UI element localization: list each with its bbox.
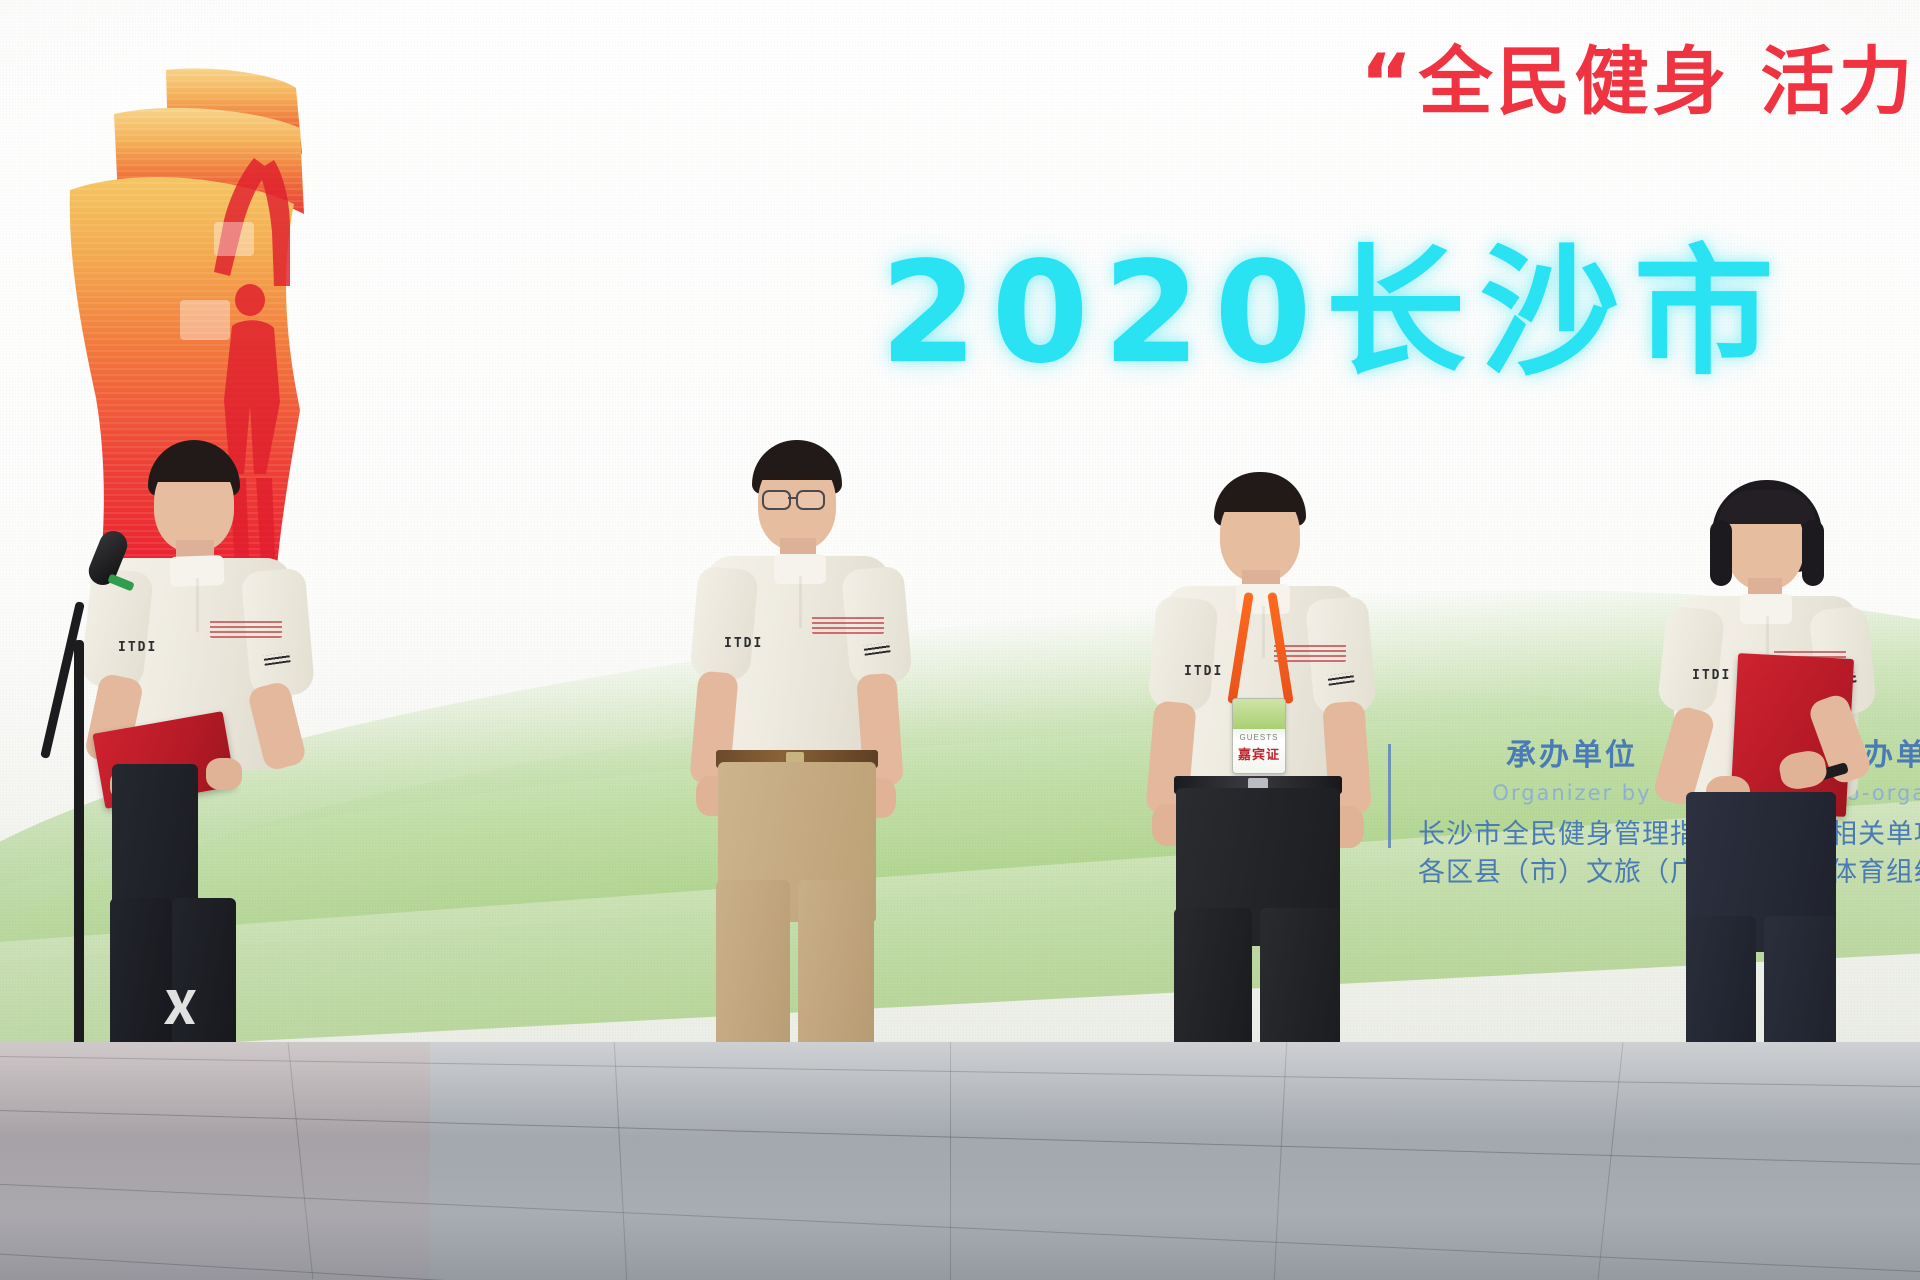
speaker-placket bbox=[196, 578, 199, 632]
guest2-event-emblem bbox=[812, 616, 884, 634]
guest2-shirt-brand-logo: ITDI bbox=[724, 636, 763, 651]
guest3-placket bbox=[1262, 606, 1265, 658]
guest4-sleeve-left bbox=[1657, 605, 1726, 714]
speaker-hand-right bbox=[206, 758, 242, 790]
badge-green-header bbox=[1233, 699, 1285, 729]
speaker-hair-front bbox=[150, 452, 238, 482]
guest3-hair-front bbox=[1216, 484, 1304, 512]
guest4-hair-front bbox=[1718, 490, 1816, 524]
led-main-title: 2020长沙市 bbox=[880, 200, 1788, 402]
guest4-shirt-brand-logo: ITDI bbox=[1692, 668, 1731, 683]
badge-chinese-label: 嘉宾证 bbox=[1233, 744, 1285, 763]
badge-english-label: GUESTS bbox=[1233, 733, 1285, 742]
speaker-event-emblem bbox=[210, 620, 282, 638]
guest4-hair-side-left bbox=[1710, 520, 1732, 586]
stage-floor bbox=[0, 1042, 1920, 1280]
guest3-shirt-brand-logo: ITDI bbox=[1184, 664, 1223, 679]
headline-quote-mark: “ bbox=[1360, 37, 1417, 130]
guest2-eyeglasses-icon bbox=[762, 490, 834, 508]
guest2-sleeve-left bbox=[689, 566, 759, 683]
led-headline: “全民健身 活力 bbox=[1360, 22, 1916, 130]
guest2-placket bbox=[799, 576, 802, 628]
guest3-sleeve-left bbox=[1147, 596, 1219, 713]
guest2-hair-front bbox=[754, 452, 840, 480]
headline-text: 全民健身 活力 bbox=[1419, 39, 1917, 125]
xtep-x-logo-icon bbox=[162, 986, 198, 1026]
stage-scene: “全民健身 活力 2020长沙市 承办单位 Organizer by 长沙市全民… bbox=[0, 0, 1920, 1280]
guest3-guest-badge: GUESTS 嘉宾证 bbox=[1232, 698, 1286, 774]
guest4-hair-side-right bbox=[1802, 520, 1824, 586]
speaker-shirt-brand-logo: ITDI bbox=[118, 640, 157, 655]
floor-sheen bbox=[0, 1042, 1920, 1280]
